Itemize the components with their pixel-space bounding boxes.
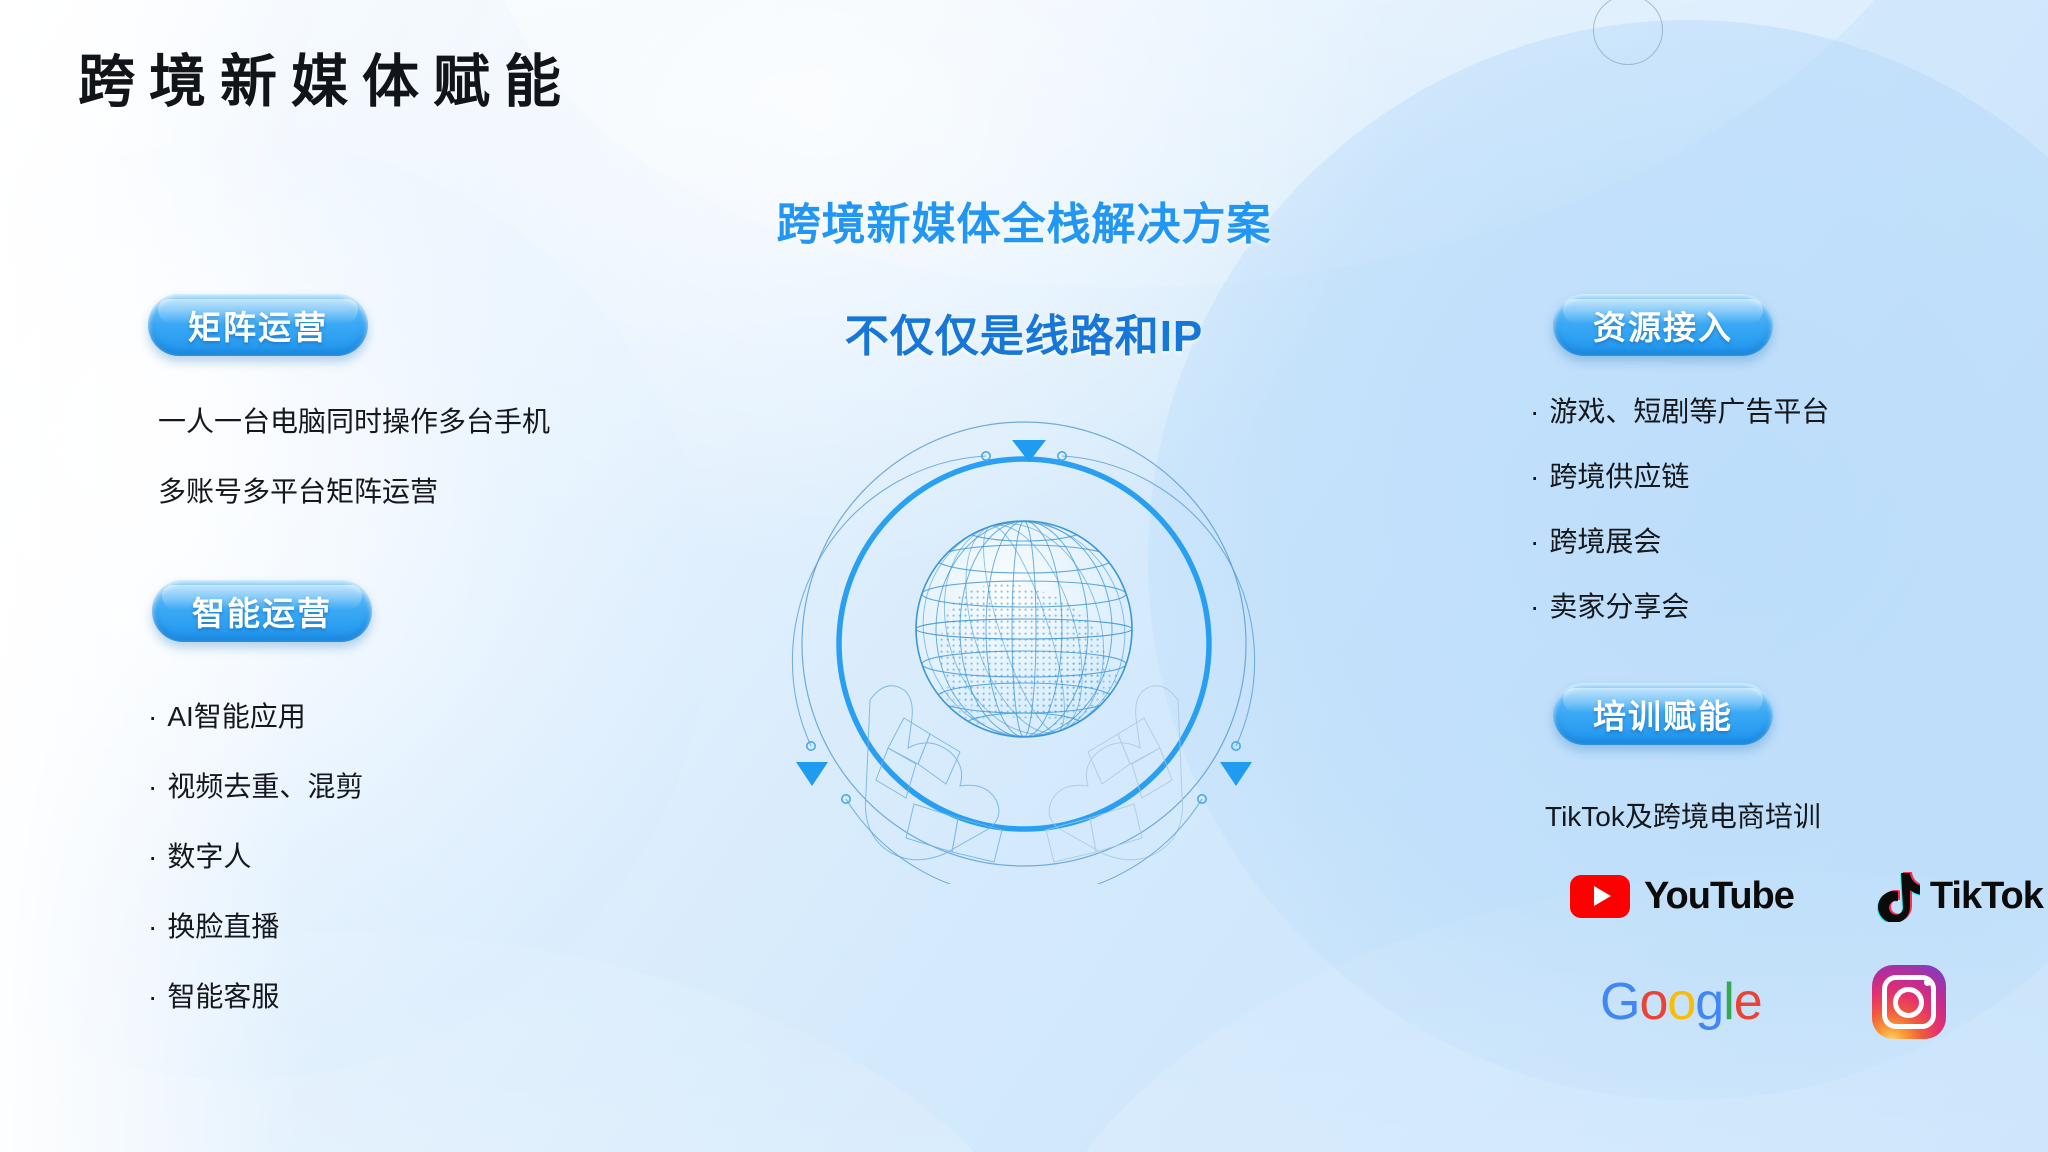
left-item-0-0: 一人一台电脑同时操作多台手机 [158, 400, 550, 440]
youtube-label: YouTube [1644, 875, 1794, 918]
right-item-0-3-label: 卖家分享会 [1549, 591, 1689, 622]
background-swoosh-bottom-left [0, 932, 1080, 1152]
pill-training-empowerment[interactable]: 培训赋能 [1553, 683, 1773, 745]
youtube-logo[interactable]: YouTube [1570, 875, 1794, 918]
left-item-1-2: ·数字人 [148, 835, 251, 875]
left-item-1-2-label: 数字人 [167, 841, 251, 872]
google-logo[interactable]: Google [1600, 972, 1762, 1032]
page-title: 跨境新媒体赋能 [78, 36, 575, 118]
pill-resource-access[interactable]: 资源接入 [1553, 294, 1773, 356]
right-item-0-1-label: 跨境供应链 [1549, 461, 1689, 492]
google-letter-g1: G [1600, 973, 1639, 1031]
globe-graphic [784, 404, 1264, 884]
instagram-logo[interactable] [1872, 965, 1946, 1039]
tiktok-note-icon [1874, 870, 1920, 922]
youtube-play-icon [1570, 875, 1630, 918]
bullet-dot: · [148, 701, 157, 733]
left-item-1-1: ·视频去重、混剪 [148, 765, 363, 805]
right-item-0-2: ·跨境展会 [1530, 520, 1661, 560]
left-item-1-1-label: 视频去重、混剪 [167, 771, 363, 802]
left-item-1-3-label: 换脸直播 [167, 911, 279, 942]
pill-smart-operations[interactable]: 智能运营 [152, 580, 372, 642]
slide-canvas: 跨境新媒体赋能 跨境新媒体全栈解决方案 不仅仅是线路和IP 矩阵运营 一人一台电… [0, 0, 2048, 1152]
right-item-0-0: ·游戏、短剧等广告平台 [1530, 390, 1829, 430]
bullet-dot: · [1530, 526, 1539, 558]
bullet-dot: · [1530, 396, 1539, 428]
left-item-1-0-label: AI智能应用 [167, 701, 305, 732]
google-letter-e: e [1734, 973, 1762, 1031]
bullet-dot: · [148, 981, 157, 1013]
instagram-lens-dot [1924, 979, 1931, 986]
google-letter-o2: o [1667, 973, 1695, 1031]
right-item-0-2-label: 跨境展会 [1549, 526, 1661, 557]
google-letter-l: l [1723, 973, 1734, 1031]
logo-row-top: YouTube TikTok [1570, 870, 2043, 922]
right-item-1-0: TikTok及跨境电商培训 [1545, 795, 1821, 835]
google-letter-g2: g [1695, 973, 1723, 1031]
bullet-dot: · [1530, 461, 1539, 493]
left-item-0-1: 多账号多平台矩阵运营 [158, 470, 438, 510]
bullet-dot: · [148, 841, 157, 873]
left-item-1-4-label: 智能客服 [167, 981, 279, 1012]
right-item-0-1: ·跨境供应链 [1530, 455, 1689, 495]
bullet-dot: · [148, 911, 157, 943]
left-item-1-0: ·AI智能应用 [148, 695, 306, 735]
pill-matrix-operations[interactable]: 矩阵运营 [148, 294, 368, 356]
tiktok-logo[interactable]: TikTok [1874, 870, 2043, 922]
left-item-1-3: ·换脸直播 [148, 905, 279, 945]
right-item-0-3: ·卖家分享会 [1530, 585, 1689, 625]
google-letter-o1: o [1639, 973, 1667, 1031]
bullet-dot: · [1530, 591, 1539, 623]
tiktok-label: TikTok [1930, 875, 2043, 918]
logo-row-bottom: Google [1600, 965, 1946, 1039]
right-item-0-0-label: 游戏、短剧等广告平台 [1549, 396, 1829, 427]
left-item-1-4: ·智能客服 [148, 975, 279, 1015]
bullet-dot: · [148, 771, 157, 803]
